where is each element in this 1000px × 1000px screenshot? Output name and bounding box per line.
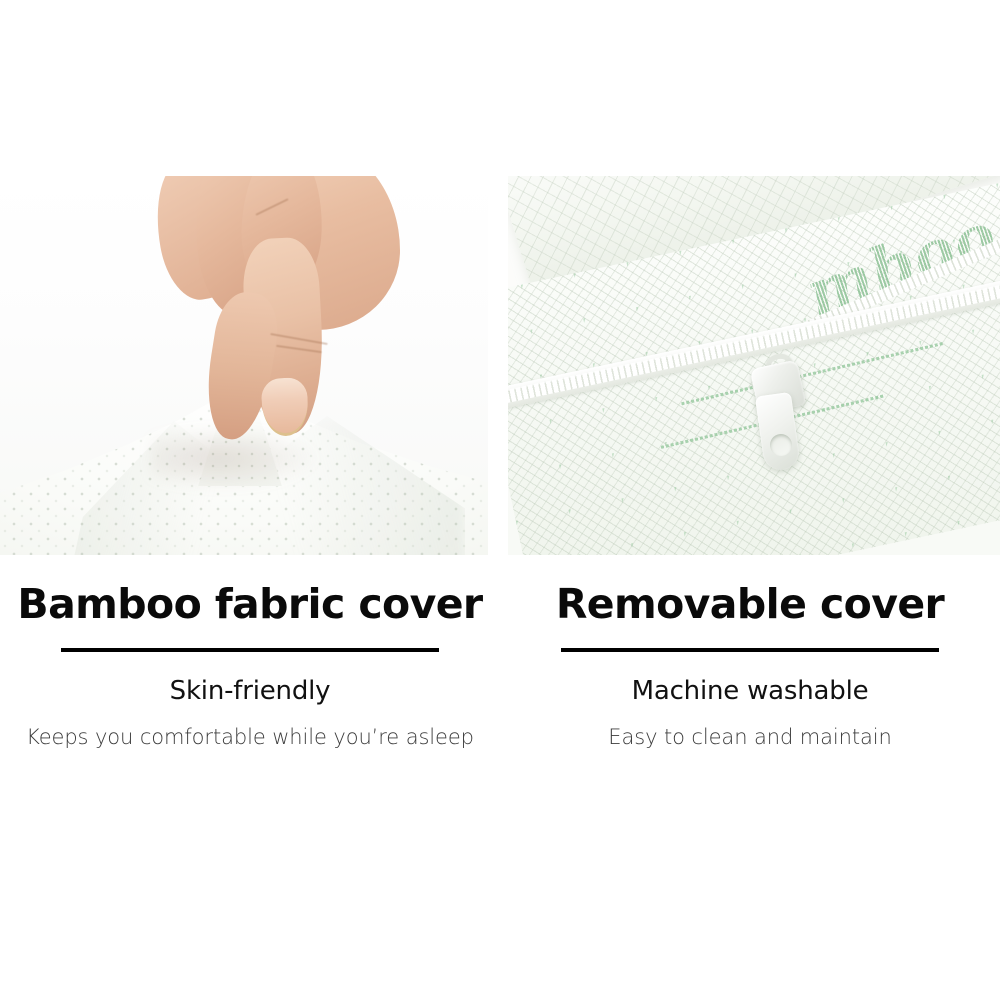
panel-divider xyxy=(488,176,508,555)
text-column-bamboo-fabric-cover: Bamboo fabric cover Skin-friendly Keeps … xyxy=(0,555,500,835)
text-column-removable-cover: Removable cover Machine washable Easy to… xyxy=(500,555,1000,835)
photo-band: amb xyxy=(0,176,1000,555)
panel-description-bamboo: Keeps you comfortable while you’re aslee… xyxy=(0,722,500,752)
product-feature-sheet: amb xyxy=(0,0,1000,1000)
hand xyxy=(150,176,400,492)
panel-heading-removable: Removable cover xyxy=(500,583,1000,626)
heading-rule xyxy=(61,648,439,652)
panel-description-removable: Easy to clean and maintain xyxy=(500,722,1000,752)
panel-subtitle-removable: Machine washable xyxy=(500,676,1000,706)
photo-bamboo-fabric-cover: amb xyxy=(0,176,488,555)
panel-heading-bamboo: Bamboo fabric cover xyxy=(0,583,500,626)
photo-removable-cover: mboo xyxy=(508,176,1000,555)
panel-subtitle-bamboo: Skin-friendly xyxy=(0,676,500,706)
heading-rule xyxy=(561,648,939,652)
text-band: Bamboo fabric cover Skin-friendly Keeps … xyxy=(0,555,1000,835)
